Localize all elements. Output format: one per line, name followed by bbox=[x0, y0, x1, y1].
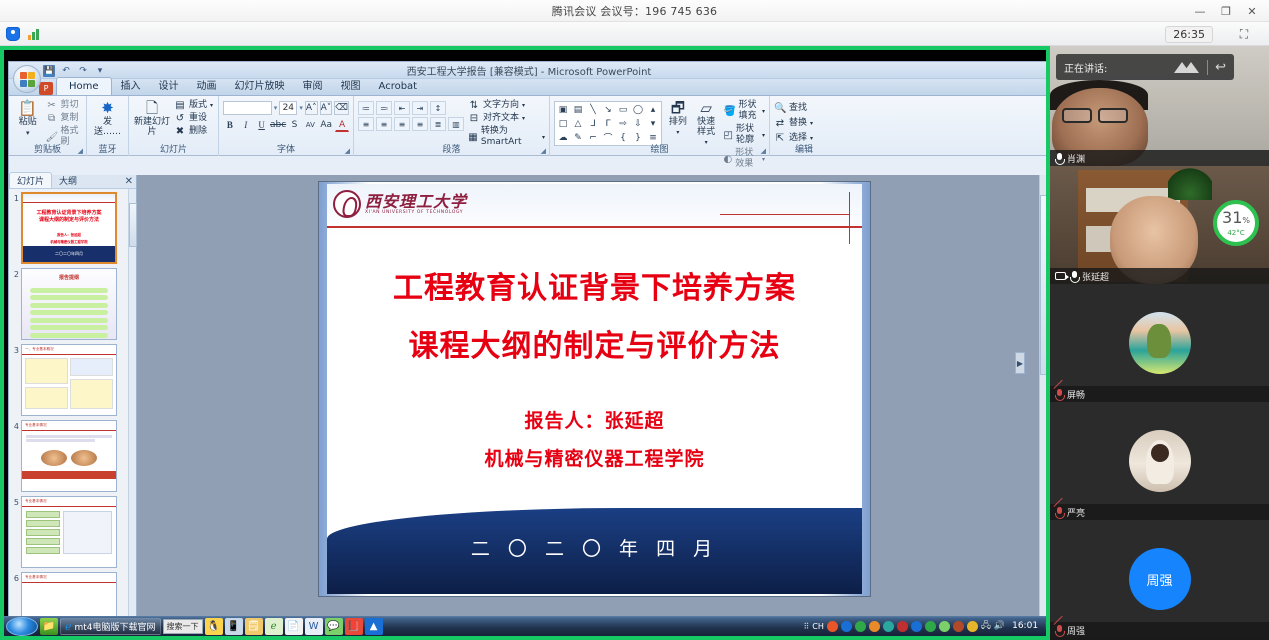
microphone-icon[interactable] bbox=[1070, 271, 1078, 282]
change-case-button[interactable]: Aa bbox=[319, 118, 333, 132]
font-name-input[interactable] bbox=[223, 101, 272, 115]
camera-icon[interactable] bbox=[1055, 272, 1066, 280]
shape-line-icon[interactable]: ╲ bbox=[586, 103, 600, 116]
explorer-icon[interactable]: 📁 bbox=[40, 618, 58, 635]
pdf-tray-icon[interactable] bbox=[897, 621, 908, 632]
title-line-2: 课程大纲的制定与评价方法 bbox=[327, 326, 862, 368]
slide-content: 西安理工大学 XI'AN UNIVERSITY OF TECHNOLOGY 工程… bbox=[327, 184, 862, 594]
header-accent-vertical bbox=[849, 192, 850, 244]
shape-elbow-icon[interactable]: ᒧ bbox=[586, 117, 600, 130]
quick-styles-label: 快速样式 bbox=[694, 117, 719, 137]
align-center-button[interactable]: ≡ bbox=[376, 117, 392, 131]
addin-icon[interactable]: P bbox=[39, 82, 53, 95]
text-direction-label: 文字方向 bbox=[483, 100, 519, 111]
clipboard-group-label: 剪贴板 bbox=[9, 142, 86, 155]
bluetooth-send-label: 发送…… bbox=[91, 117, 124, 137]
cut-label: 剪切 bbox=[61, 100, 79, 111]
security-shield-icon[interactable] bbox=[6, 27, 20, 41]
paste-button[interactable]: 📋 粘贴 ▾ bbox=[13, 98, 43, 138]
ribbon-group-paragraph: ≔ ≕ ⇤ ⇥ ↕ ≡ ≡ ≡ ≡ bbox=[354, 96, 550, 156]
thumbnail-preview[interactable]: 专业基本情况 bbox=[21, 572, 117, 619]
glasses-icon bbox=[1062, 108, 1134, 123]
screen: 腾讯会议 会议号：196 745 636 — ❐ ✕ 26:35 ⛶ 💾 ↶ ↷… bbox=[0, 0, 1269, 640]
participant-name: 严亮 bbox=[1067, 506, 1085, 519]
ie-icon[interactable]: ℯ bbox=[265, 618, 283, 635]
maximize-button[interactable]: ❐ bbox=[1213, 0, 1239, 22]
find-button[interactable]: 🔍 查找 bbox=[774, 103, 834, 114]
scrollbar-thumb[interactable] bbox=[129, 203, 137, 247]
user-icon[interactable] bbox=[953, 621, 964, 632]
close-pane-icon[interactable]: ✕ bbox=[125, 176, 133, 187]
undo-icon[interactable]: ↶ bbox=[60, 65, 72, 77]
paintbrush-icon: 🖌 bbox=[46, 132, 58, 143]
slide-thumbnails[interactable]: 1 工程教育认证背景下培养方案 课程大纲的制定与评价方法 报告人：张延超 机械与… bbox=[9, 189, 129, 619]
quick-styles-button[interactable]: ▱ 快速样式 ▾ bbox=[694, 98, 719, 148]
close-button[interactable]: ✕ bbox=[1239, 0, 1265, 22]
start-button[interactable] bbox=[6, 617, 38, 636]
shadow-button[interactable]: S bbox=[288, 118, 302, 132]
copy-button[interactable]: ⧉ 复制 bbox=[46, 113, 82, 124]
line-spacing-button[interactable]: ↕ bbox=[430, 101, 446, 115]
participant-label: 肖渊 bbox=[1050, 150, 1269, 166]
distribute-button[interactable]: ≣ bbox=[430, 117, 446, 131]
slide-date: 二 〇 二 〇 年 四 月 bbox=[327, 534, 862, 561]
new-slide-icon: 🗋 bbox=[146, 100, 158, 116]
avatar bbox=[1129, 430, 1191, 492]
pdf-icon[interactable]: 📕 bbox=[345, 618, 363, 635]
app-icon[interactable]: ▲ bbox=[365, 618, 383, 635]
align-text-button[interactable]: ⊟ 对齐文本 ▾ bbox=[468, 113, 545, 124]
current-slide[interactable]: 西安理工大学 XI'AN UNIVERSITY OF TECHNOLOGY 工程… bbox=[318, 181, 871, 597]
shape-oval-icon[interactable]: ◯ bbox=[631, 103, 645, 116]
windows-taskbar: 📁 ℯ mt4电脑版下载官网 搜索一下 🐧 📱 🗒 ℯ 📄 W 💬 📕 ▲ ⠿ … bbox=[4, 616, 1050, 636]
chevron-down-icon[interactable]: ▾ bbox=[762, 106, 765, 117]
redo-icon[interactable]: ↷ bbox=[77, 65, 89, 77]
tab-insert[interactable]: 插入 bbox=[112, 78, 150, 95]
battery-percent: 31% bbox=[1222, 210, 1250, 229]
network-signal-icon[interactable] bbox=[28, 28, 39, 40]
sogou-icon[interactable] bbox=[827, 621, 838, 632]
font-size-input[interactable]: 24 bbox=[279, 101, 297, 115]
tab-outline[interactable]: 大纲 bbox=[52, 173, 84, 188]
shape-scroll-down-icon[interactable]: ▾ bbox=[646, 117, 660, 130]
new-slide-label: 新建幻灯片 bbox=[133, 117, 171, 137]
header-rule bbox=[327, 226, 862, 228]
avatar-initials: 周强 bbox=[1129, 548, 1191, 610]
department-name: 机械与精密仪器工程学院 bbox=[327, 444, 862, 474]
divider bbox=[1207, 60, 1208, 75]
ppt-workspace: 幻灯片 大纲 ✕ 1 工程教育认证背景下培养方案 课程大纲的制定与评价方法 bbox=[9, 175, 1050, 619]
document-icon[interactable]: 📄 bbox=[285, 618, 303, 635]
chevron-down-icon[interactable]: ▾ bbox=[810, 118, 813, 129]
thumbnail-number: 3 bbox=[11, 344, 19, 416]
meeting-timer: 26:35 bbox=[1165, 26, 1213, 43]
thumbnail-item[interactable]: 6 专业基本情况 bbox=[11, 572, 127, 619]
arrange-icon: 🗗 bbox=[671, 100, 685, 116]
participant-label: 周强 bbox=[1050, 622, 1269, 638]
smartart-icon: ▦ bbox=[468, 132, 478, 143]
participant-name: 肖渊 bbox=[1067, 152, 1085, 165]
participant-name: 周强 bbox=[1067, 624, 1085, 637]
media-icon[interactable] bbox=[855, 621, 866, 632]
bluetooth-send-button[interactable]: ✸ 发送…… bbox=[91, 98, 124, 137]
thumbnail-preview[interactable]: 报告提纲 bbox=[21, 268, 117, 340]
reset-icon: ↺ bbox=[174, 113, 186, 124]
strikethrough-button[interactable]: abc bbox=[271, 118, 286, 132]
chevron-down-icon[interactable]: ▾ bbox=[522, 113, 525, 124]
ribbon: 📋 粘贴 ▾ ✂ 剪切 ⧉ 复制 bbox=[9, 96, 1049, 156]
header-accent-horizontal bbox=[720, 214, 850, 215]
chevron-down-icon[interactable]: ▾ bbox=[762, 130, 765, 141]
quick-styles-icon: ▱ bbox=[700, 100, 712, 116]
find-icon: 🔍 bbox=[774, 103, 786, 114]
font-group-label: 字体 bbox=[219, 142, 353, 155]
wechat-tray-icon[interactable] bbox=[939, 621, 950, 632]
shape-effects-icon: ◐ bbox=[724, 154, 733, 165]
chevron-down-icon[interactable]: ▾ bbox=[542, 132, 545, 143]
battery-value: 31 bbox=[1222, 208, 1242, 227]
delete-icon: ✖ bbox=[174, 126, 186, 137]
logo-chinese-name: 西安理工大学 bbox=[365, 193, 467, 210]
slides-pane-scrollbar[interactable] bbox=[128, 189, 136, 619]
new-slide-button[interactable]: 🗋 新建幻灯片 bbox=[133, 98, 171, 137]
shape-textbox-icon[interactable]: ▣ bbox=[556, 103, 570, 116]
tray-expand-icon[interactable]: ⠿ bbox=[803, 622, 809, 631]
participant-tile[interactable]: 正在讲话: ↩ 肖渊 bbox=[1050, 46, 1269, 166]
cut-button[interactable]: ✂ 剪切 bbox=[46, 100, 82, 111]
plant-decoration bbox=[1168, 166, 1212, 200]
save-icon[interactable]: 💾 bbox=[43, 65, 55, 77]
ribbon-group-clipboard: 📋 粘贴 ▾ ✂ 剪切 ⧉ 复制 bbox=[9, 96, 87, 156]
shape-square-icon[interactable]: □ bbox=[556, 117, 570, 130]
chevron-down-icon[interactable]: ▾ bbox=[210, 100, 213, 111]
thumbnail-item[interactable]: 3 一、专业基本概况 bbox=[11, 344, 127, 416]
office-logo-icon bbox=[20, 72, 35, 87]
tab-view[interactable]: 视图 bbox=[332, 78, 370, 95]
fullscreen-icon[interactable]: ⛶ bbox=[1235, 26, 1253, 42]
shape-outline-icon: ◰ bbox=[724, 130, 733, 141]
participant-tile[interactable]: 周强 周强 bbox=[1050, 520, 1269, 638]
shield-tray-icon[interactable] bbox=[967, 621, 978, 632]
slides-group-label: 幻灯片 bbox=[129, 142, 218, 155]
italic-button[interactable]: I bbox=[239, 118, 253, 132]
meeting-toolbar bbox=[0, 22, 1269, 46]
slide-footer: 二 〇 二 〇 年 四 月 bbox=[327, 508, 862, 594]
delete-label: 删除 bbox=[189, 126, 207, 137]
office-button[interactable] bbox=[13, 65, 41, 93]
participant-tile[interactable]: 31% 42°C 张延超 bbox=[1050, 166, 1269, 284]
tab-animation[interactable]: 动画 bbox=[188, 78, 226, 95]
thumbnail-preview[interactable]: 工程教育认证背景下培养方案 课程大纲的制定与评价方法 报告人：张延超 机械与精密… bbox=[21, 192, 117, 264]
powerpoint-window: 💾 ↶ ↷ ▾ 西安工程大学报告 [兼容模式] - Microsoft Powe… bbox=[8, 61, 1050, 636]
tab-acrobat[interactable]: Acrobat bbox=[370, 78, 427, 95]
font-name-dropdown-icon[interactable]: ▾ bbox=[274, 104, 278, 112]
ppt-window-title: 西安工程大学报告 [兼容模式] - Microsoft PowerPoint bbox=[407, 63, 652, 78]
system-tray: ⠿ CH 🖧 🔊 16:01 ▯ bbox=[803, 616, 1050, 636]
tab-slideshow[interactable]: 幻灯片放映 bbox=[226, 78, 294, 95]
presenter-name: 报告人：张延超 bbox=[327, 406, 862, 436]
taskbar-clock[interactable]: 16:01 bbox=[1008, 621, 1042, 631]
clipboard-icon: 📋 bbox=[18, 100, 37, 116]
ribbon-tabs: P Home 插入 设计 动画 幻灯片放映 审阅 视图 Acrobat bbox=[9, 79, 1049, 96]
shape-arrow-right-icon[interactable]: ⇨ bbox=[616, 117, 630, 130]
thumbnail-item[interactable]: 2 报告提纲 bbox=[11, 268, 127, 340]
next-slide-arrow[interactable]: ▶ bbox=[1015, 352, 1025, 374]
microphone-muted-icon[interactable] bbox=[1055, 389, 1063, 400]
font-size-dropdown-icon[interactable]: ▾ bbox=[299, 104, 303, 112]
thumbnail-number: 5 bbox=[11, 496, 19, 568]
slide-title-block: 工程教育认证背景下培养方案 课程大纲的制定与评价方法 bbox=[327, 268, 862, 368]
numbering-button[interactable]: ≕ bbox=[376, 101, 392, 115]
replace-label: 替换 bbox=[789, 118, 807, 129]
shared-screen-area: 💾 ↶ ↷ ▾ 西安工程大学报告 [兼容模式] - Microsoft Powe… bbox=[0, 46, 1050, 640]
chevron-down-icon[interactable]: ▾ bbox=[26, 128, 30, 138]
participant-tile[interactable]: 严亮 bbox=[1050, 402, 1269, 520]
align-text-icon: ⊟ bbox=[468, 113, 480, 124]
shape-scroll-up-icon[interactable]: ▴ bbox=[646, 103, 660, 116]
avatar bbox=[1129, 312, 1191, 374]
minimize-button[interactable]: — bbox=[1187, 0, 1213, 22]
chevron-down-icon[interactable]: ▾ bbox=[676, 128, 679, 138]
updater-icon[interactable] bbox=[883, 621, 894, 632]
ppt-titlebar: 💾 ↶ ↷ ▾ 西安工程大学报告 [兼容模式] - Microsoft Powe… bbox=[9, 62, 1049, 79]
tab-slides[interactable]: 幻灯片 bbox=[9, 172, 52, 188]
align-right-button[interactable]: ≡ bbox=[394, 117, 410, 131]
ribbon-group-font: ▾ 24 ▾ A˄ A˅ ⌫ B I U abc S AV Aa bbox=[219, 96, 354, 156]
slide-header: 西安理工大学 XI'AN UNIVERSITY OF TECHNOLOGY bbox=[327, 184, 862, 236]
stage-scrollbar[interactable] bbox=[1039, 175, 1050, 619]
title-line-1: 工程教育认证背景下培养方案 bbox=[327, 268, 862, 310]
taskbar-item-label: mt4电脑版下载官网 bbox=[75, 620, 156, 633]
microphone-muted-icon[interactable] bbox=[1055, 625, 1063, 636]
logo-english-name: XI'AN UNIVERSITY OF TECHNOLOGY bbox=[365, 210, 467, 215]
wechat-icon[interactable]: 💬 bbox=[325, 618, 343, 635]
font-dialog-launcher[interactable]: ◢ bbox=[345, 147, 350, 155]
shape-fill-label: 形状填充 bbox=[739, 100, 759, 122]
shape-arrow-icon[interactable]: ↘ bbox=[601, 103, 615, 116]
search-button[interactable]: 搜索一下 bbox=[163, 619, 203, 634]
thumbnail-number: 4 bbox=[11, 420, 19, 492]
mountain-icon bbox=[1174, 61, 1200, 73]
layout-label: 版式 bbox=[189, 100, 207, 111]
microphone-icon[interactable] bbox=[1055, 153, 1063, 164]
slides-pane: 幻灯片 大纲 ✕ 1 工程教育认证背景下培养方案 课程大纲的制定与评价方法 bbox=[9, 175, 137, 619]
ribbon-group-drawing: ▣ ▤ ╲ ↘ ▭ ◯ ▴ □ △ ᒧ ᒥ ⇨ ⇩ bbox=[550, 96, 770, 156]
replace-icon: ⇄ bbox=[774, 118, 786, 129]
layout-button[interactable]: ▤ 版式 ▾ bbox=[174, 100, 213, 111]
meeting-title: 腾讯会议 会议号：196 745 636 bbox=[552, 3, 717, 19]
align-left-button[interactable]: ≡ bbox=[358, 117, 374, 131]
ribbon-group-bluetooth: ✸ 发送…… 蓝牙 bbox=[87, 96, 129, 156]
text-direction-button[interactable]: ⇅ 文字方向 ▾ bbox=[468, 100, 545, 111]
increase-indent-button[interactable]: ⇥ bbox=[412, 101, 428, 115]
meeting-titlebar: 腾讯会议 会议号：196 745 636 — ❐ ✕ bbox=[0, 0, 1269, 22]
columns-button[interactable]: ▥ bbox=[448, 117, 464, 131]
delete-slide-button[interactable]: ✖ 删除 bbox=[174, 126, 213, 137]
thumbnail-item[interactable]: 1 工程教育认证背景下培养方案 课程大纲的制定与评价方法 报告人：张延超 机械与… bbox=[11, 192, 127, 264]
bullets-button[interactable]: ≔ bbox=[358, 101, 374, 115]
shape-elbow2-icon[interactable]: ᒥ bbox=[601, 117, 615, 130]
speaking-controls: ↩ bbox=[1174, 60, 1226, 75]
taskbar-item-browser[interactable]: ℯ mt4电脑版下载官网 bbox=[60, 618, 161, 635]
shape-frame-icon[interactable]: ▤ bbox=[571, 103, 585, 116]
justify-button[interactable]: ≡ bbox=[412, 117, 428, 131]
drawing-dialog-launcher[interactable]: ◢ bbox=[761, 147, 766, 155]
word-icon[interactable]: W bbox=[305, 618, 323, 635]
phone-icon[interactable]: 📱 bbox=[225, 618, 243, 635]
participant-tile[interactable]: 屏畅 bbox=[1050, 284, 1269, 402]
security-icon[interactable] bbox=[869, 621, 880, 632]
shape-fill-icon: 🪣 bbox=[724, 106, 736, 117]
university-logo: 西安理工大学 XI'AN UNIVERSITY OF TECHNOLOGY bbox=[333, 190, 467, 218]
grow-font-icon[interactable]: A˄ bbox=[305, 101, 318, 115]
reset-button[interactable]: ↺ 重设 bbox=[174, 113, 213, 124]
character-spacing-button[interactable]: AV bbox=[303, 118, 317, 132]
logo-emblem-icon bbox=[333, 190, 361, 218]
underline-button[interactable]: U bbox=[255, 118, 269, 132]
ribbon-group-slides: 🗋 新建幻灯片 ▤ 版式 ▾ ↺ 重设 bbox=[129, 96, 219, 156]
chevron-down-icon[interactable]: ▾ bbox=[522, 100, 525, 111]
qq-tray-icon[interactable] bbox=[841, 621, 852, 632]
thumbnail-preview[interactable]: 专业基本情况 bbox=[21, 496, 117, 568]
participants-panel: 正在讲话: ↩ 肖渊 31% 42°C bbox=[1050, 46, 1269, 640]
shape-triangle-icon[interactable]: △ bbox=[571, 117, 585, 130]
thumbnail-item[interactable]: 4 专业基本情况 bbox=[11, 420, 127, 492]
bold-button[interactable]: B bbox=[223, 118, 237, 132]
thumbnail-number: 6 bbox=[11, 572, 19, 619]
ie-tray-icon[interactable] bbox=[925, 621, 936, 632]
thumbnail-item[interactable]: 5 专业基本情况 bbox=[11, 496, 127, 568]
clear-formatting-icon[interactable]: ⌫ bbox=[334, 101, 349, 115]
thumbnail-number: 1 bbox=[11, 192, 19, 264]
shape-arrow-down-icon[interactable]: ⇩ bbox=[631, 117, 645, 130]
copy-label: 复制 bbox=[61, 113, 79, 124]
shape-gallery[interactable]: ▣ ▤ ╲ ↘ ▭ ◯ ▴ □ △ ᒧ ᒥ ⇨ ⇩ bbox=[554, 101, 662, 146]
slide-stage: 西安理工大学 XI'AN UNIVERSITY OF TECHNOLOGY 工程… bbox=[138, 175, 1039, 619]
bluetooth-group-label: 蓝牙 bbox=[87, 142, 128, 155]
ie-icon: ℯ bbox=[65, 620, 72, 633]
customize-qat-icon[interactable]: ▾ bbox=[94, 65, 106, 77]
battery-temperature: 42°C bbox=[1227, 229, 1244, 237]
bluetooth-icon: ✸ bbox=[101, 100, 114, 116]
drawing-group-label: 绘图 bbox=[550, 142, 769, 155]
scrollbar-thumb[interactable] bbox=[1040, 195, 1050, 375]
align-text-label: 对齐文本 bbox=[483, 113, 519, 124]
battery-unit: % bbox=[1242, 216, 1250, 225]
bluetooth-tray-icon[interactable] bbox=[911, 621, 922, 632]
battery-widget: 31% 42°C bbox=[1213, 200, 1259, 246]
editing-group-label: 编辑 bbox=[770, 142, 838, 155]
arrange-button[interactable]: 🗗 排列 ▾ bbox=[667, 98, 689, 138]
shrink-font-icon[interactable]: A˅ bbox=[320, 101, 333, 115]
participant-label: 张延超 bbox=[1050, 268, 1269, 284]
thumbnail-preview[interactable]: 专业基本情况 bbox=[21, 420, 117, 492]
replace-button[interactable]: ⇄ 替换 ▾ bbox=[774, 118, 834, 129]
qq-icon[interactable]: 🐧 bbox=[205, 618, 223, 635]
thumbnail-number: 2 bbox=[11, 268, 19, 340]
tab-home[interactable]: Home bbox=[56, 77, 112, 95]
paste-label: 粘贴 bbox=[19, 117, 37, 127]
shape-rect-icon[interactable]: ▭ bbox=[616, 103, 630, 116]
paragraph-group-label: 段落 bbox=[354, 142, 549, 155]
scissors-icon: ✂ bbox=[46, 100, 58, 111]
layout-icon: ▤ bbox=[174, 100, 186, 111]
participant-label: 屏畅 bbox=[1050, 386, 1269, 402]
reset-label: 重设 bbox=[189, 113, 207, 124]
ribbon-group-editing: 🔍 查找 ⇄ 替换 ▾ ⇱ 选择 ▾ bbox=[770, 96, 838, 156]
participant-name: 屏畅 bbox=[1067, 388, 1085, 401]
slides-pane-tabs: 幻灯片 大纲 ✕ bbox=[9, 175, 136, 189]
reply-arrow-icon[interactable]: ↩ bbox=[1215, 60, 1226, 75]
copy-icon: ⧉ bbox=[46, 113, 58, 124]
window-controls: — ❐ ✕ bbox=[1187, 0, 1265, 22]
text-direction-icon: ⇅ bbox=[468, 100, 480, 111]
font-color-button[interactable]: A bbox=[335, 118, 349, 132]
notes-icon[interactable]: 🗒 bbox=[245, 618, 263, 635]
tab-review[interactable]: 审阅 bbox=[294, 78, 332, 95]
network-icon[interactable]: 🖧 bbox=[981, 618, 991, 634]
participant-label: 严亮 bbox=[1050, 504, 1269, 520]
speaking-label: 正在讲话: bbox=[1064, 60, 1107, 75]
decrease-indent-button[interactable]: ⇤ bbox=[394, 101, 410, 115]
input-method-icon[interactable]: CH bbox=[812, 622, 824, 631]
microphone-muted-icon[interactable] bbox=[1055, 507, 1063, 518]
shape-fill-button[interactable]: 🪣 形状填充 ▾ bbox=[724, 100, 765, 122]
chevron-down-icon[interactable]: ▾ bbox=[762, 154, 765, 165]
volume-icon[interactable]: 🔊 bbox=[994, 621, 1005, 631]
arrange-label: 排列 bbox=[669, 117, 687, 127]
thumbnail-preview[interactable]: 一、专业基本概况 bbox=[21, 344, 117, 416]
clipboard-dialog-launcher[interactable]: ◢ bbox=[78, 147, 83, 155]
speaking-indicator: 正在讲话: ↩ bbox=[1056, 54, 1234, 80]
participant-name: 张延超 bbox=[1082, 270, 1109, 283]
paragraph-dialog-launcher[interactable]: ◢ bbox=[541, 147, 546, 155]
find-label: 查找 bbox=[789, 103, 807, 114]
tab-design[interactable]: 设计 bbox=[150, 78, 188, 95]
